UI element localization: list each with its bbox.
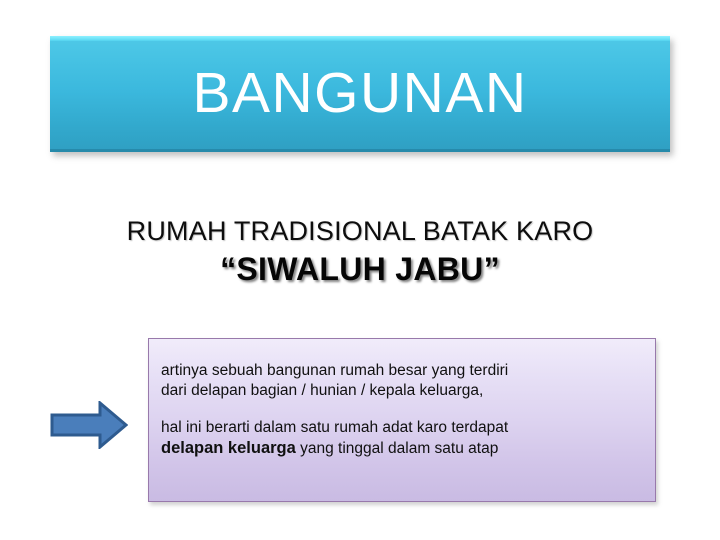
page-title: BANGUNAN [192, 65, 527, 124]
right-arrow-icon [50, 401, 128, 449]
description-line-1: artinya sebuah bangunan rumah besar yang… [161, 361, 641, 381]
subtitle-primary: RUMAH TRADISIONAL BATAK KARO [0, 216, 720, 247]
description-line-2: dari delapan bagian / hunian / kepala ke… [161, 381, 641, 401]
paragraph-spacer [161, 401, 641, 418]
description-box: artinya sebuah bangunan rumah besar yang… [148, 338, 656, 502]
right-arrow-shape [50, 401, 128, 449]
heading-block: RUMAH TRADISIONAL BATAK KARO “SIWALUH JA… [0, 216, 720, 291]
description-line-3: hal ini berarti dalam satu rumah adat ka… [161, 418, 641, 438]
description-bold-phrase: delapan keluarga [161, 439, 296, 457]
description-line-4: delapan keluarga yang tinggal dalam satu… [161, 438, 641, 459]
arrow-polygon [52, 403, 126, 447]
description-trailing-text: yang tinggal dalam satu atap [296, 440, 499, 457]
subtitle-emphasis: “SIWALUH JABU” [0, 249, 720, 291]
slide-canvas: BANGUNAN RUMAH TRADISIONAL BATAK KARO “S… [0, 0, 720, 540]
title-banner: BANGUNAN [50, 36, 670, 152]
